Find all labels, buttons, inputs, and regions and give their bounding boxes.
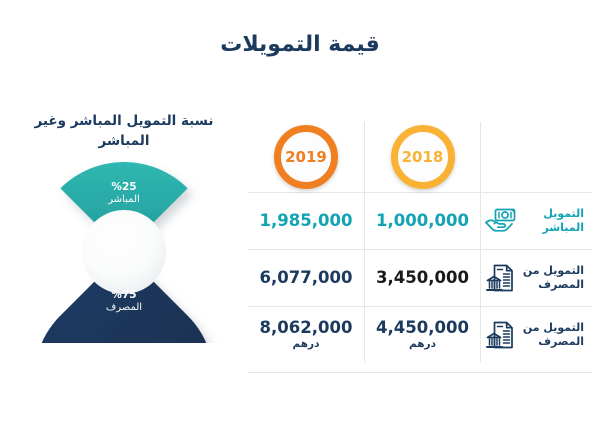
table-header-row: 2019 2018 bbox=[248, 122, 592, 192]
table-row: 6,077,000 3,450,000 التمويل من المصرف bbox=[248, 249, 592, 306]
table-row: 1,985,000 1,000,000 التمويل المباشر bbox=[248, 192, 592, 249]
cell-2018-total: 4,450,000 درهم bbox=[364, 307, 480, 363]
page-title: قيمة التمويلات bbox=[0, 32, 600, 57]
year-badge-2019[interactable]: 2019 bbox=[274, 125, 338, 189]
cell-2019-bank: 6,077,000 bbox=[248, 250, 364, 306]
donut-center-hole bbox=[82, 210, 166, 294]
cell-2019-total: 8,062,000 درهم bbox=[248, 307, 364, 363]
table-bottom-rule bbox=[248, 372, 592, 373]
value-2018-total-number: 4,450,000 bbox=[376, 318, 469, 337]
value-2019-total: 8,062,000 درهم bbox=[260, 319, 353, 350]
row-label-direct: التمويل المباشر bbox=[522, 207, 584, 236]
value-2019-bank: 6,077,000 bbox=[260, 269, 353, 288]
year-cell-2019: 2019 bbox=[248, 122, 364, 192]
value-2019-total-unit: درهم bbox=[260, 338, 353, 350]
value-2018-bank: 3,450,000 bbox=[376, 269, 469, 288]
row-label-total: التمويل من المصرف bbox=[522, 321, 584, 350]
row-label-bank: التمويل من المصرف bbox=[522, 264, 584, 293]
donut-chart-caption: نسبة التمويل المباشر وغير المباشر bbox=[16, 112, 232, 151]
label-cell-total: التمويل من المصرف bbox=[480, 307, 592, 363]
value-2018-total-unit: درهم bbox=[376, 338, 469, 350]
header-label-cell bbox=[480, 122, 592, 192]
label-cell-direct: التمويل المباشر bbox=[480, 193, 592, 249]
year-cell-2018: 2018 bbox=[364, 122, 480, 192]
label-cell-bank: التمويل من المصرف bbox=[480, 250, 592, 306]
hand-holding-money-icon bbox=[483, 206, 517, 236]
comparison-table: 2019 2018 1,985,000 1,000,000 التمويل ال… bbox=[248, 122, 592, 372]
donut-chart-panel: نسبة التمويل المباشر وغير المباشر bbox=[8, 112, 240, 364]
value-2018-total: 4,450,000 درهم bbox=[376, 319, 469, 350]
cell-2018-bank: 3,450,000 bbox=[364, 250, 480, 306]
bank-document-icon bbox=[483, 320, 517, 350]
year-badge-2018[interactable]: 2018 bbox=[391, 125, 455, 189]
table-row: 8,062,000 درهم 4,450,000 درهم التمويل من… bbox=[248, 306, 592, 363]
bank-document-icon bbox=[483, 263, 517, 293]
value-2019-total-number: 8,062,000 bbox=[260, 318, 353, 337]
value-2019-direct: 1,985,000 bbox=[260, 212, 353, 231]
donut-chart: %25 المباشر %75 المصرف bbox=[24, 161, 224, 343]
donut-chart-svg bbox=[24, 161, 224, 343]
cell-2018-direct: 1,000,000 bbox=[364, 193, 480, 249]
value-2018-direct: 1,000,000 bbox=[376, 212, 469, 231]
cell-2019-direct: 1,985,000 bbox=[248, 193, 364, 249]
